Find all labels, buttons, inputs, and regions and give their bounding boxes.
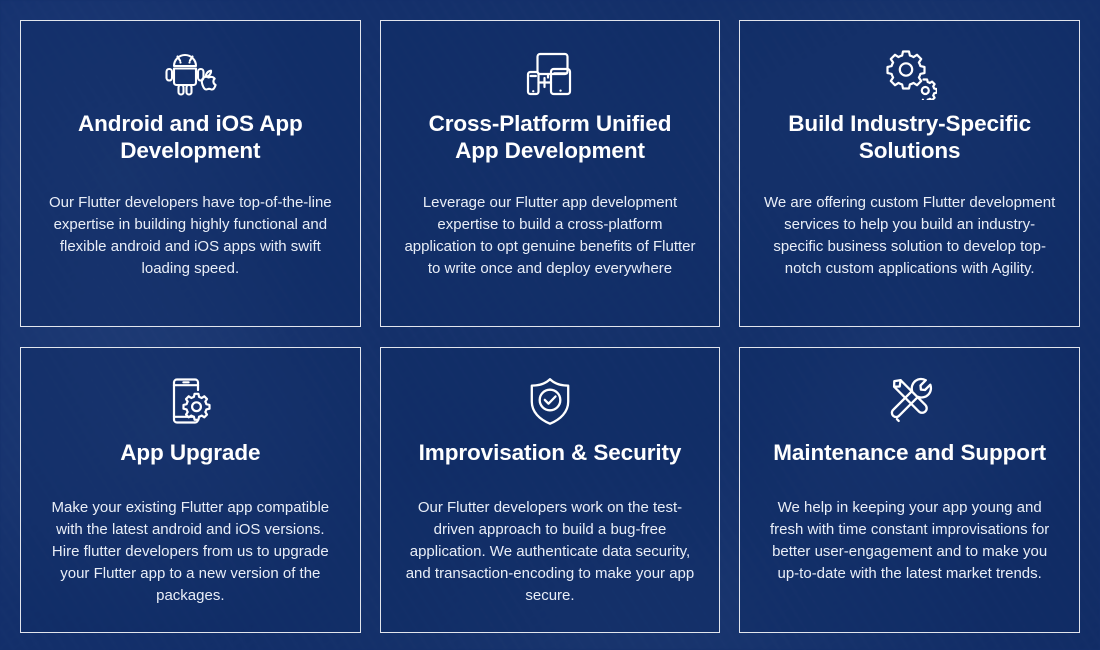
card-title: Build Industry-Specific Solutions [772, 111, 1047, 164]
responsive-devices-icon [524, 47, 576, 101]
card-title: App Upgrade [120, 440, 260, 467]
wrench-screwdriver-icon [885, 374, 935, 428]
service-card-app-upgrade[interactable]: App Upgrade Make your existing Flutter a… [20, 347, 361, 633]
service-card-android-ios[interactable]: Android and iOS App Development Our Flut… [20, 20, 361, 327]
card-title: Android and iOS App Development [53, 111, 328, 164]
card-description: We are offering custom Flutter developme… [764, 192, 1056, 280]
card-description: Our Flutter developers work on the test-… [404, 497, 696, 607]
card-title: Improvisation & Security [419, 440, 682, 467]
card-description: We help in keeping your app young and fr… [764, 497, 1056, 585]
card-title: Maintenance and Support [773, 440, 1046, 467]
card-title: Cross-Platform Unified App Development [412, 111, 687, 164]
shield-check-icon [527, 374, 573, 428]
card-description: Make your existing Flutter app compatibl… [44, 497, 336, 607]
service-card-maintenance[interactable]: Maintenance and Support We help in keepi… [739, 347, 1080, 633]
service-card-security[interactable]: Improvisation & Security Our Flutter dev… [380, 347, 721, 633]
service-card-cross-platform[interactable]: Cross-Platform Unified App Development L… [380, 20, 721, 327]
gears-icon [883, 47, 937, 101]
card-description: Leverage our Flutter app development exp… [404, 192, 696, 280]
service-card-industry-solutions[interactable]: Build Industry-Specific Solutions We are… [739, 20, 1080, 327]
android-apple-icon [161, 47, 219, 101]
card-description: Our Flutter developers have top-of-the-l… [44, 192, 336, 280]
phone-gear-icon [167, 374, 213, 428]
services-card-grid: Android and iOS App Development Our Flut… [20, 20, 1080, 633]
